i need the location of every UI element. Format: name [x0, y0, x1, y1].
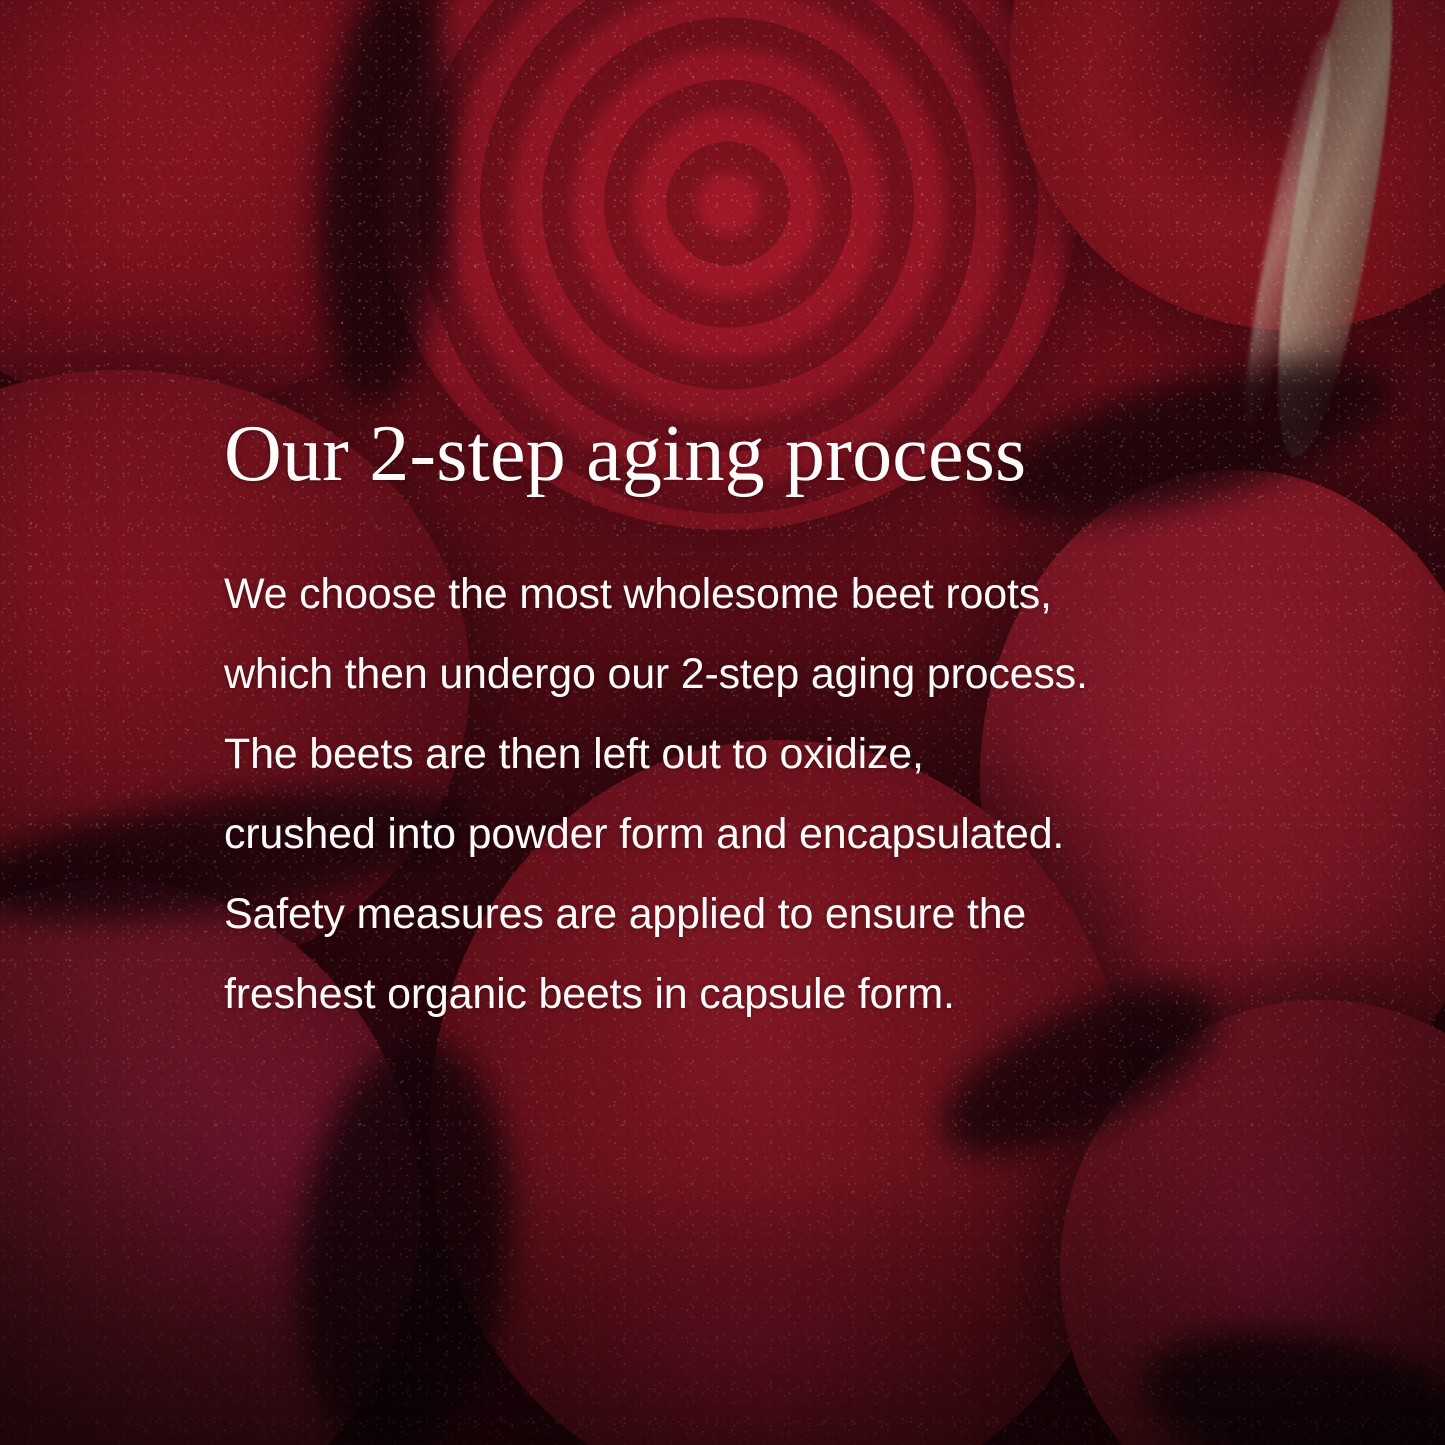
beet-gap-shadow	[279, 1030, 532, 1445]
body-line: freshest organic beets in capsule form.	[224, 954, 1234, 1034]
beet-gap-shadow	[1128, 1304, 1445, 1445]
body-line: The beets are then left out to oxidize,	[224, 714, 1234, 794]
magenta-bloom-bottom	[540, 1230, 960, 1445]
copy-block: Our 2-step aging process We choose the m…	[224, 414, 1234, 1034]
body-line: which then undergo our 2-step aging proc…	[224, 634, 1234, 714]
beet-gap-shadow	[305, 0, 465, 414]
body-line: crushed into powder form and encapsulate…	[224, 794, 1234, 874]
promo-banner: Our 2-step aging process We choose the m…	[0, 0, 1445, 1445]
body-line: Safety measures are applied to ensure th…	[224, 874, 1234, 954]
body-copy: We choose the most wholesome beet roots,…	[224, 554, 1234, 1034]
headline: Our 2-step aging process	[224, 414, 1234, 494]
body-line: We choose the most wholesome beet roots,	[224, 554, 1234, 634]
